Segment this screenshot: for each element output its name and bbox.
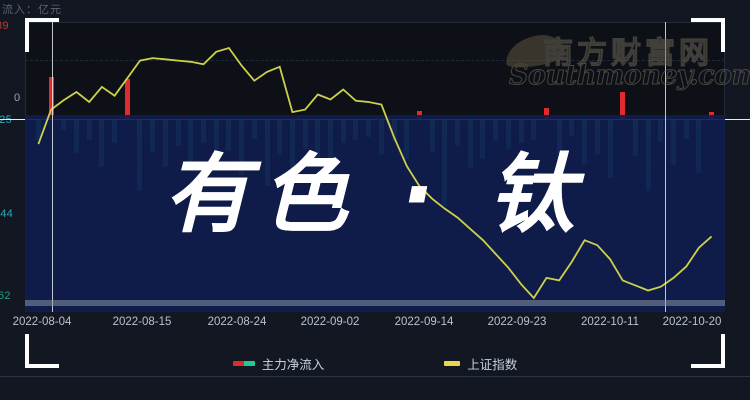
x-tick-7: 2022-10-20 [663,316,722,328]
x-tick-1: 2022-08-15 [113,316,172,328]
footer-strip [0,378,750,400]
bracket-top-left-v [25,18,29,52]
legend-item-index[interactable]: 上证指数 [444,354,517,373]
bracket-bottom-right-h [691,364,725,368]
x-tick-4: 2022-09-14 [395,316,454,328]
bracket-top-right-v [721,18,725,52]
bracket-top-left-h [25,18,59,22]
bracket-bottom-right-v [721,334,725,368]
footer-divider [0,376,750,377]
bracket-bottom-left-v [25,334,29,368]
x-tick-3: 2022-09-02 [301,316,360,328]
legend-item-inflow[interactable]: 主力净流入 [233,354,325,373]
legend-swatch-bar-icon [233,361,255,366]
legend-label-index: 上证指数 [467,354,517,373]
x-tick-5: 2022-09-23 [488,316,547,328]
legend-swatch-line-icon [444,361,460,366]
legend-label-inflow: 主力净流入 [262,354,325,373]
overlay-title: 有色 · 钛 [0,152,750,238]
horizontal-scrollbar[interactable] [25,300,725,306]
watermark: 南方财富网 Southmoney.com [505,28,750,106]
bracket-top-right-h [691,18,725,22]
x-axis-ticks: 2022-08-042022-08-152022-08-242022-09-02… [0,316,750,336]
watermark-english: Southmoney.com [509,60,750,91]
x-tick-0: 2022-08-04 [13,316,72,328]
x-tick-6: 2022-10-11 [581,316,639,328]
chart-legend: 主力净流入 上证指数 [0,352,750,374]
x-tick-2: 2022-08-24 [208,316,267,328]
bracket-bottom-left-h [25,364,59,368]
chart-screenshot: 流入：亿元 39 0 .25 644 62 有色 · 钛 南方财富网 South… [0,0,750,400]
